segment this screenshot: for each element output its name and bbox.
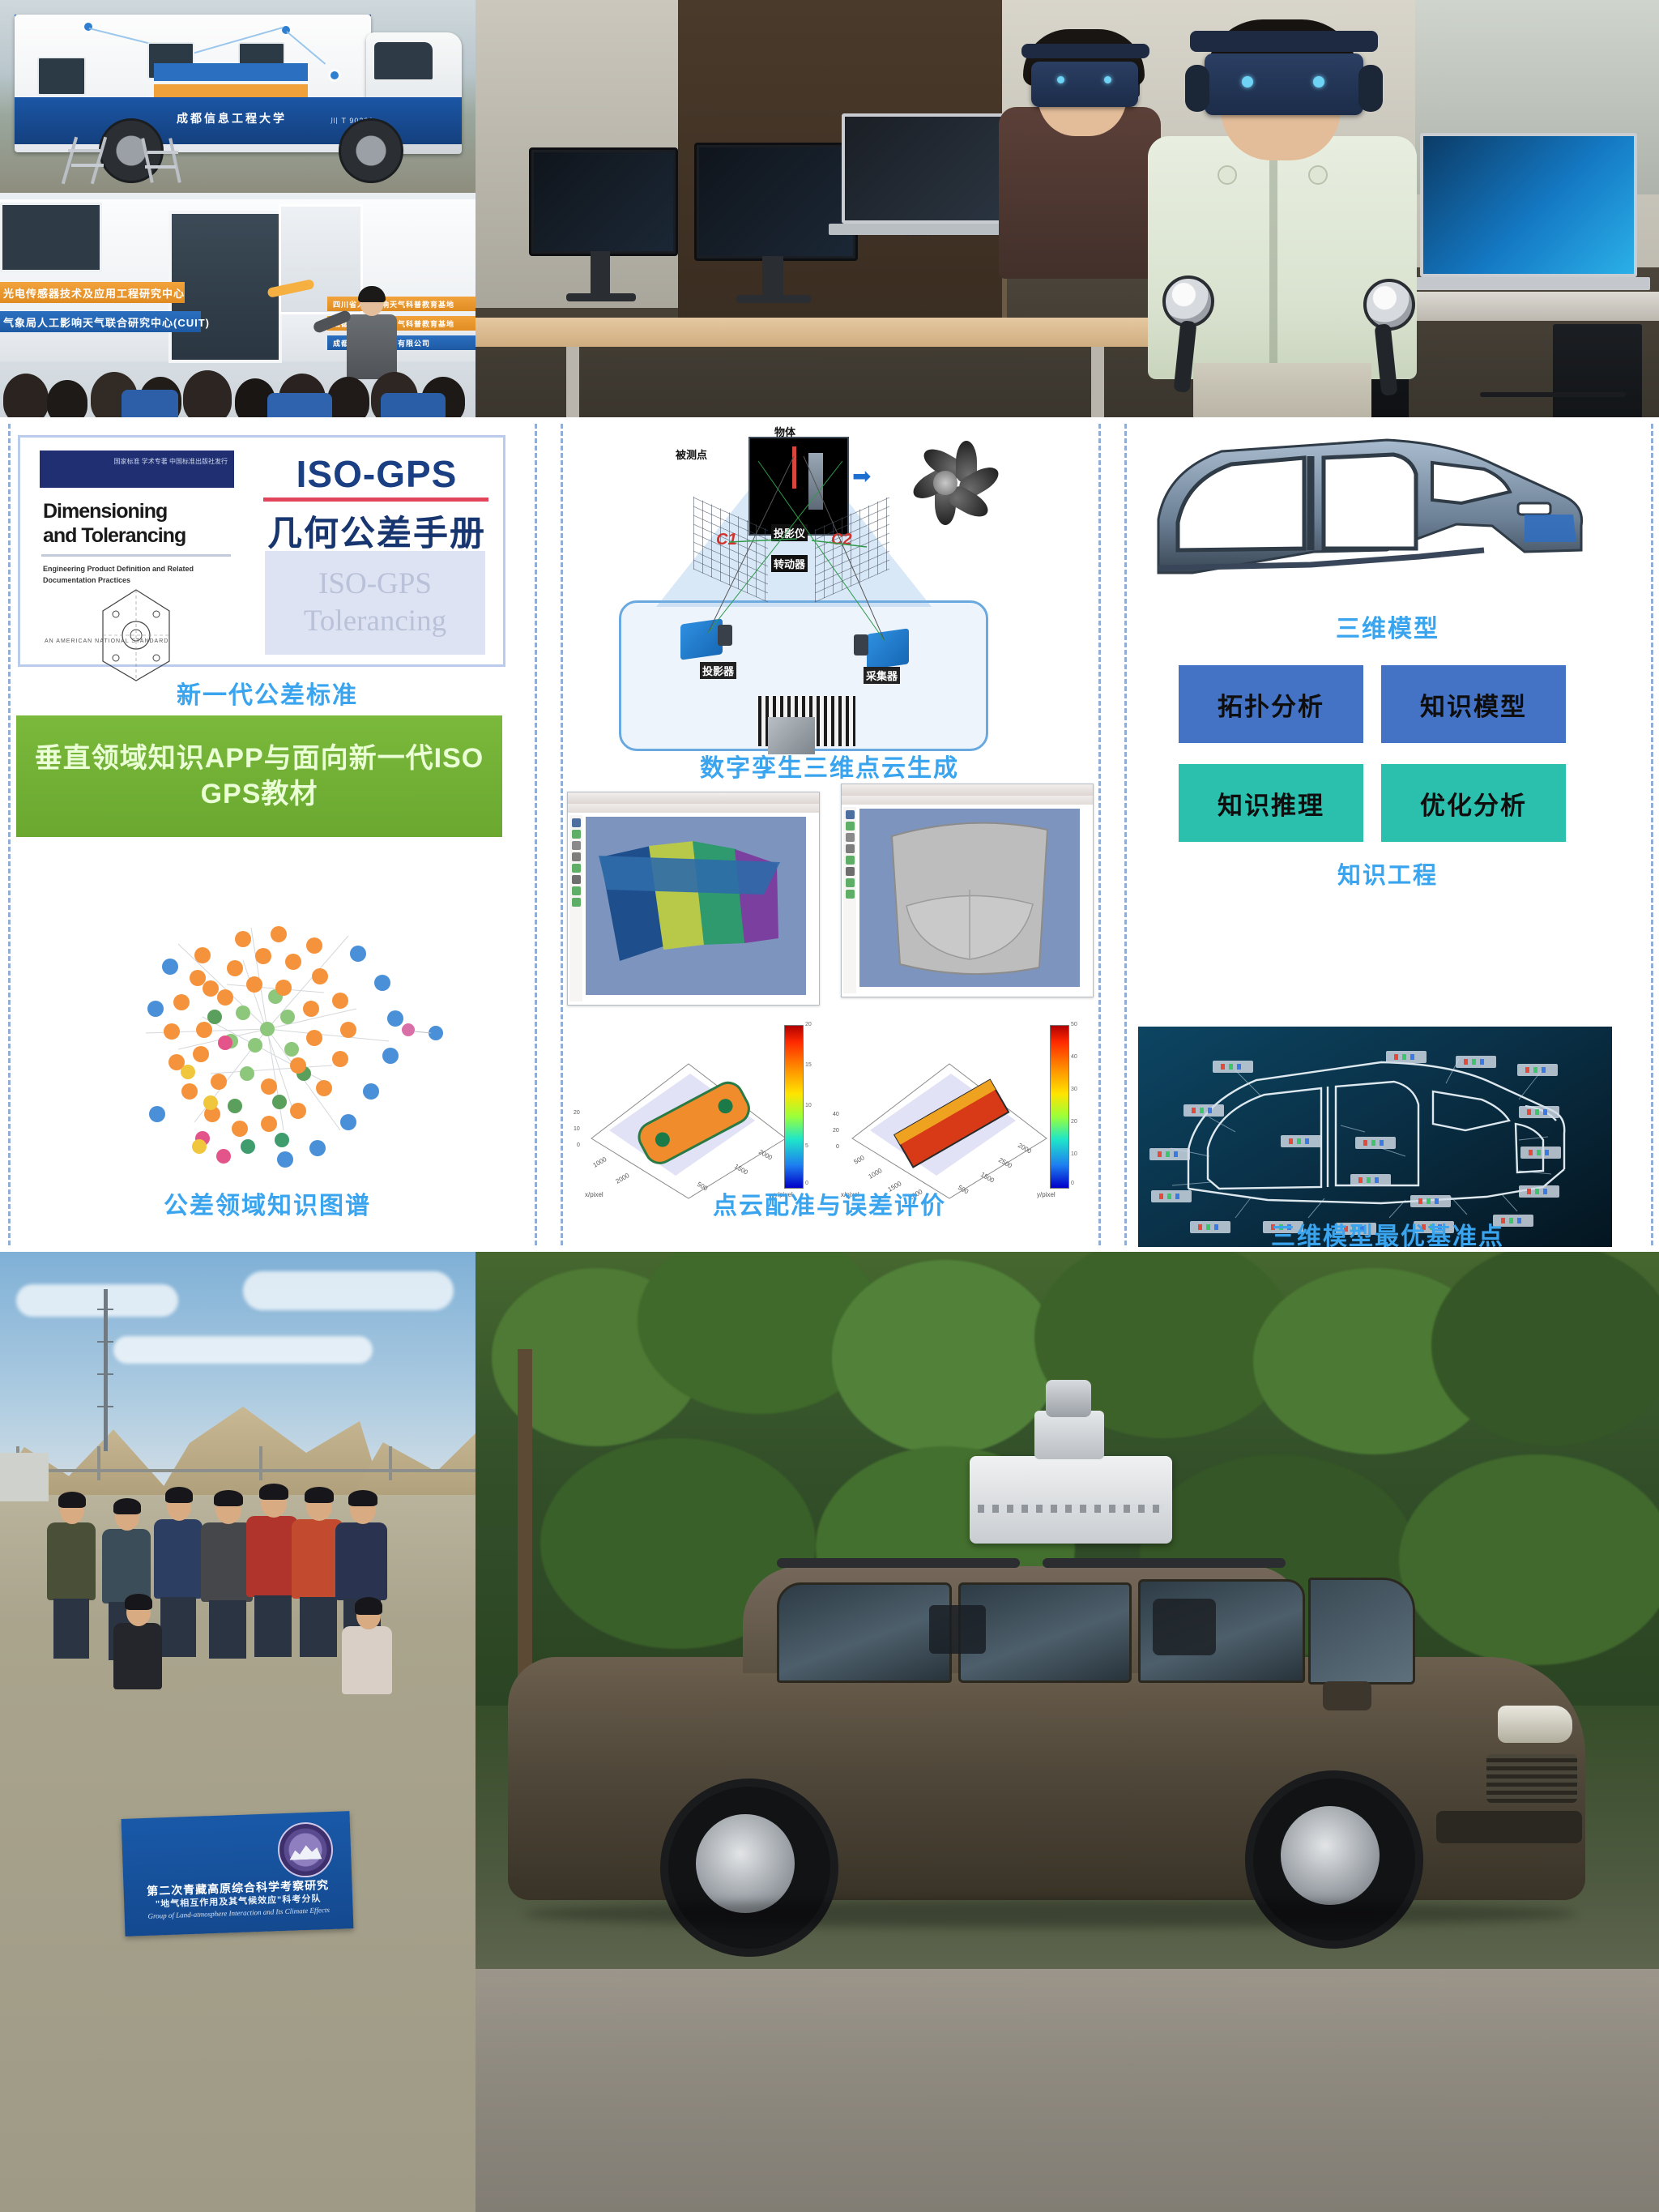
tool-icon[interactable] <box>846 822 855 831</box>
lab-desk <box>476 318 1205 347</box>
student-crowd <box>0 354 476 417</box>
monitor-screen <box>534 152 673 251</box>
windshield <box>1308 1578 1415 1685</box>
column-separator <box>561 424 563 1245</box>
blade-model <box>586 817 806 995</box>
window-toolbar[interactable] <box>843 807 856 993</box>
caption-digital-twin-point-cloud: 数字孪生三维点云生成 <box>561 748 1098 784</box>
column-separator <box>1651 424 1653 1245</box>
member-jacket <box>47 1522 96 1600</box>
window-toolbar[interactable] <box>569 815 582 1001</box>
jacket-button <box>1218 165 1237 185</box>
window-titlebar[interactable] <box>568 792 819 805</box>
crowd-uniform <box>267 393 332 417</box>
datum-point-label <box>1281 1135 1321 1147</box>
tool-icon[interactable] <box>572 841 581 850</box>
book-technical-drawing <box>92 587 181 684</box>
truck-wheel <box>339 118 403 183</box>
presenter-hair <box>358 286 386 302</box>
tool-icon[interactable] <box>846 878 855 887</box>
window-rear <box>777 1582 952 1683</box>
book-header-text: 国家标准 学术专著 中国标准出版社发行 <box>114 457 228 466</box>
lidar-sensor-head <box>1046 1380 1091 1417</box>
crowd-head <box>183 370 232 417</box>
vehicle-body-3d-model <box>1144 429 1597 615</box>
tool-icon[interactable] <box>846 856 855 865</box>
colorbar-tick: 50 <box>1071 1022 1077 1027</box>
watermark-line-2: Tolerancing <box>304 603 446 640</box>
datum-point-label <box>1151 1190 1192 1202</box>
member-hair <box>165 1487 193 1503</box>
datum-point-label <box>1410 1195 1451 1207</box>
caption-point-cloud-registration: 点云配准与误差评价 <box>561 1185 1098 1221</box>
svg-text:1500: 1500 <box>979 1171 996 1185</box>
tool-icon[interactable] <box>572 818 581 827</box>
vr-led <box>1104 76 1111 83</box>
svg-text:20: 20 <box>574 1110 580 1116</box>
tool-icon[interactable] <box>572 898 581 907</box>
ladder-step <box>145 165 176 169</box>
crowd-head <box>3 374 49 417</box>
ribbon-photonics-center: 光电传感器技术及应用工程研究中心 <box>0 282 185 303</box>
tool-icon[interactable] <box>572 886 581 895</box>
member-jacket <box>342 1626 392 1694</box>
foreground-user-pants <box>1193 363 1371 417</box>
wheel-rim <box>696 1814 795 1913</box>
iso-gps-title-cn: 几何公差手册 <box>257 506 497 556</box>
datum-point-label <box>1519 1106 1559 1118</box>
laptop-lenovo: Lenovo <box>842 113 1012 224</box>
cad-viewport-right <box>859 809 1080 987</box>
monitor-base <box>736 295 811 303</box>
member-hair <box>125 1594 152 1610</box>
iso-title-rule <box>263 497 488 502</box>
knowledge-graph-svg <box>81 871 454 1187</box>
datum-point-label <box>1520 1147 1561 1159</box>
crowd-head <box>327 377 369 417</box>
lidar-vent <box>978 1505 1164 1513</box>
photo-tibetan-plateau-team: 第二次青藏高原综合科学考察研究 "地气相互作用及其气候效应"科考分队 Group… <box>0 1252 476 2212</box>
ladder-step <box>68 149 100 152</box>
svg-text:0: 0 <box>577 1142 580 1148</box>
vr-earphone-right <box>1358 65 1383 112</box>
truck-band-text: 成都信息工程大学 <box>177 110 287 126</box>
caption-new-tolerance-standard: 新一代公差标准 <box>0 675 535 711</box>
cab-window <box>374 42 433 79</box>
member-hair <box>214 1490 243 1506</box>
error-plot-right: 500 1000 1500 2000 x/pixel 2500 2000 150… <box>825 1017 1092 1203</box>
kbox-optimization-analysis[interactable]: 优化分析 <box>1381 764 1566 842</box>
vr-headset-foreground <box>1205 53 1363 115</box>
laptop-windows <box>1420 133 1637 277</box>
kbox-knowledge-model[interactable]: 知识模型 <box>1381 665 1566 743</box>
photo-vr-laboratory: Lenovo <box>476 0 1659 417</box>
vr-earphone-left <box>1185 65 1209 112</box>
jacket-button <box>1308 165 1328 185</box>
datum-point-visualization <box>1138 1027 1612 1247</box>
tool-icon[interactable] <box>846 844 855 853</box>
kbox-knowledge-reasoning[interactable]: 知识推理 <box>1179 764 1363 842</box>
foliage-cluster <box>1399 1454 1659 1665</box>
member-hair <box>259 1484 288 1500</box>
datum-point-label <box>1386 1051 1427 1063</box>
foliage-cluster <box>832 1260 1059 1454</box>
laptop-screen-windows <box>1423 136 1634 274</box>
fence-post <box>389 1446 392 1480</box>
wheel-rear <box>660 1779 838 1957</box>
window-titlebar[interactable] <box>842 784 1093 796</box>
member-legs <box>254 1595 292 1657</box>
monitor-base <box>566 293 636 301</box>
datum-point-label <box>1149 1148 1190 1160</box>
lidar-mount <box>1034 1411 1104 1459</box>
book-title-line1: Dimensioning <box>43 501 167 522</box>
tool-icon[interactable] <box>846 810 855 819</box>
pc-tower <box>1553 324 1642 417</box>
colorbar-tick: 30 <box>1071 1087 1077 1092</box>
photo-mobile-mapping-vehicle <box>476 1252 1659 2212</box>
window-menubar[interactable] <box>842 796 1093 805</box>
headlight <box>1498 1706 1572 1743</box>
crowd-head <box>47 380 87 417</box>
monitor-center <box>694 143 858 261</box>
side-mirror <box>1323 1681 1371 1710</box>
mast-crossbar <box>97 1373 113 1375</box>
datum-point-label <box>1350 1174 1391 1186</box>
tool-icon[interactable] <box>572 852 581 861</box>
tree-trunk <box>518 1349 532 1689</box>
book-footer: AN AMERICAN NATIONAL STANDARD <box>45 638 168 644</box>
vr-led <box>1313 76 1324 88</box>
cad-viewport-left <box>586 817 806 995</box>
ladder-step <box>147 151 178 154</box>
column-separator <box>8 424 11 1245</box>
crowd-uniform <box>381 393 446 417</box>
datum-point-label <box>1213 1061 1253 1073</box>
datum-point-label <box>1519 1185 1559 1198</box>
colorbar-tick: 15 <box>805 1062 812 1068</box>
roof-rail-right <box>1043 1558 1286 1568</box>
equipment-bay <box>0 203 102 272</box>
tool-icon[interactable] <box>846 890 855 899</box>
svg-text:500: 500 <box>853 1154 867 1166</box>
svg-text:2000: 2000 <box>757 1148 774 1162</box>
column-separator <box>1098 424 1101 1245</box>
wheel-rim <box>1281 1806 1380 1905</box>
tool-icon[interactable] <box>572 864 581 873</box>
book-title-line2: and Tolerancing <box>43 525 186 546</box>
colorbar-tick: 10 <box>1071 1151 1077 1157</box>
svg-text:2000: 2000 <box>615 1172 631 1185</box>
member-jacket <box>154 1519 203 1599</box>
team-member-kneeling <box>110 1592 167 1706</box>
colorbar-right <box>1050 1025 1069 1189</box>
datum-point-label <box>1517 1064 1558 1076</box>
driver-silhouette <box>1153 1599 1216 1655</box>
cloud <box>113 1336 373 1364</box>
iso-watermark-block: ISO-GPS Tolerancing <box>265 551 485 655</box>
monitor-stand <box>591 251 610 295</box>
team-member <box>44 1488 99 1659</box>
member-legs <box>53 1599 89 1659</box>
window-menubar[interactable] <box>568 804 819 813</box>
caption-3d-model: 三维模型 <box>1124 609 1651 644</box>
svg-text:2000: 2000 <box>1017 1142 1033 1155</box>
caption-optimal-datum-point: 三维模型最优基准点 <box>1124 1216 1651 1252</box>
caption-tolerance-knowledge-graph: 公差领域知识图谱 <box>0 1185 535 1221</box>
svg-text:1000: 1000 <box>868 1167 884 1181</box>
svg-text:0: 0 <box>836 1144 839 1150</box>
colorbar-tick: 10 <box>805 1103 812 1108</box>
digital-twin-diagram: 物体 被测点 ➡ 投影仪 转动器 C1 C2 投影器 采集器 <box>599 429 1004 753</box>
svg-text:1000: 1000 <box>592 1155 608 1169</box>
svg-text:10: 10 <box>574 1126 580 1132</box>
book-header-band: 国家标准 学术专著 中国标准出版社发行 <box>40 451 234 488</box>
book-cover: 国家标准 学术专著 中国标准出版社发行 Dimensioning and Tol… <box>40 451 234 653</box>
research-collage-panel: 国家标准 学术专著 中国标准出版社发行 Dimensioning and Tol… <box>0 417 1659 1252</box>
ladder-step <box>71 164 104 167</box>
graphic-link <box>286 31 326 64</box>
knowledge-graph-visualization <box>81 871 454 1187</box>
banner-stripe-blue <box>154 63 308 81</box>
vehicle-shadow <box>524 1900 1577 1928</box>
watermark-line-1: ISO-GPS <box>318 566 432 603</box>
collage-page: 成都信息工程大学 成都信息工程大学 川 T 90281 光电传感器技术及应用工程… <box>0 0 1659 2212</box>
vr-led <box>1242 76 1253 88</box>
vr-controller-right[interactable] <box>1363 279 1415 331</box>
vr-user-background <box>994 11 1172 279</box>
weather-mast <box>104 1289 108 1451</box>
desk-leg <box>1091 347 1104 417</box>
cloud <box>16 1284 178 1317</box>
tool-icon[interactable] <box>846 867 855 876</box>
vr-user-foreground <box>1148 6 1423 417</box>
fence-rail <box>0 1469 476 1472</box>
datum-point-label <box>1355 1137 1396 1149</box>
vr-headset-background <box>1031 62 1138 107</box>
truck-open-door <box>168 211 282 363</box>
photo-truck-demonstration: 光电传感器技术及应用工程研究中心 气象局人工影响天气联合研究中心(CUIT) 四… <box>0 193 476 417</box>
vr-led <box>1057 76 1064 83</box>
road-surface <box>476 1969 1659 2212</box>
book-subtitle: Engineering Product Definition and Relat… <box>43 564 234 586</box>
scanned-part-model <box>859 809 1080 987</box>
monitor-left <box>529 147 678 256</box>
monitor-screen <box>699 147 853 256</box>
member-hair <box>355 1597 382 1615</box>
cad-window-right <box>841 784 1094 997</box>
member-hair <box>348 1490 377 1506</box>
ribbon-weather-center: 气象局人工影响天气联合研究中心(CUIT) <box>0 311 201 332</box>
diagram-rays <box>599 429 1004 753</box>
svg-text:1500: 1500 <box>733 1163 749 1176</box>
member-hair <box>113 1498 141 1514</box>
mast-crossbar <box>97 1406 113 1407</box>
svg-text:20: 20 <box>833 1128 839 1134</box>
svg-text:40: 40 <box>833 1112 839 1117</box>
front-bumper <box>1436 1811 1582 1843</box>
laptop-screen <box>845 117 1009 220</box>
lidar-scanner-housing <box>970 1456 1172 1544</box>
graphic-node <box>331 71 339 79</box>
cad-window-left <box>567 792 820 1006</box>
bodyframe-svg <box>1144 429 1597 615</box>
tool-icon[interactable] <box>846 833 855 842</box>
colorbar-tick: 20 <box>1071 1119 1077 1125</box>
datum-point-label <box>1183 1104 1224 1117</box>
jacket-zipper <box>1269 149 1277 368</box>
kbox-topology-analysis[interactable]: 拓扑分析 <box>1179 665 1363 743</box>
colorbar-tick: 40 <box>1071 1054 1077 1060</box>
colorbar-tick: 20 <box>805 1022 812 1027</box>
svg-text:2500: 2500 <box>997 1156 1013 1170</box>
member-hair <box>58 1492 86 1508</box>
expedition-seal-icon <box>277 1821 334 1878</box>
iso-gps-handbook-card: 国家标准 学术专著 中国标准出版社发行 Dimensioning and Tol… <box>18 435 505 667</box>
column-separator <box>535 424 537 1245</box>
column-separator <box>1124 424 1127 1245</box>
equipment-hut <box>0 1453 49 1501</box>
book-divider <box>41 554 231 557</box>
caption-knowledge-engineering: 知识工程 <box>1124 856 1651 890</box>
expedition-banner: 第二次青藏高原综合科学考察研究 "地气相互作用及其气候效应"科考分队 Group… <box>122 1811 354 1937</box>
cloud <box>243 1271 454 1310</box>
vr-strap-foreground <box>1190 31 1378 52</box>
error-plot-left: 1000 2000 x/pixel 1500 2000 500 y/pixel … <box>567 1017 826 1203</box>
member-legs <box>209 1600 246 1659</box>
green-banner-knowledge-app: 垂直领域知识APP与面向新一代ISO GPS教材 <box>16 715 502 837</box>
vr-strap-background <box>1021 44 1149 58</box>
colorbar-tick: 5 <box>805 1143 808 1149</box>
laptop-base <box>1407 277 1650 290</box>
equipment-panel <box>37 57 86 96</box>
tool-icon[interactable] <box>572 830 581 839</box>
team-member-kneeling <box>339 1595 397 1709</box>
datum-point-label <box>1456 1056 1496 1068</box>
monitor-stand <box>762 256 783 297</box>
roof-rail-left <box>777 1558 1020 1568</box>
cable <box>1480 392 1626 397</box>
mast-crossbar <box>97 1341 113 1343</box>
member-jacket <box>113 1623 162 1689</box>
tool-icon[interactable] <box>572 875 581 884</box>
member-hair <box>305 1487 334 1503</box>
colorbar-left <box>784 1025 804 1189</box>
front-grille <box>1486 1754 1577 1803</box>
desk-leg <box>566 347 579 417</box>
member-jacket <box>335 1522 387 1600</box>
photo-mobile-lab-truck: 成都信息工程大学 成都信息工程大学 川 T 90281 <box>0 0 476 193</box>
iso-gps-title: ISO-GPS <box>263 452 490 496</box>
mast-crossbar <box>97 1309 113 1310</box>
passenger-silhouette <box>929 1605 986 1654</box>
vr-controller-left[interactable] <box>1162 275 1214 327</box>
fence-post <box>259 1446 262 1480</box>
seal-mountain-glyph <box>289 1841 322 1860</box>
fence-post <box>97 1446 100 1480</box>
crowd-uniform <box>122 390 178 417</box>
